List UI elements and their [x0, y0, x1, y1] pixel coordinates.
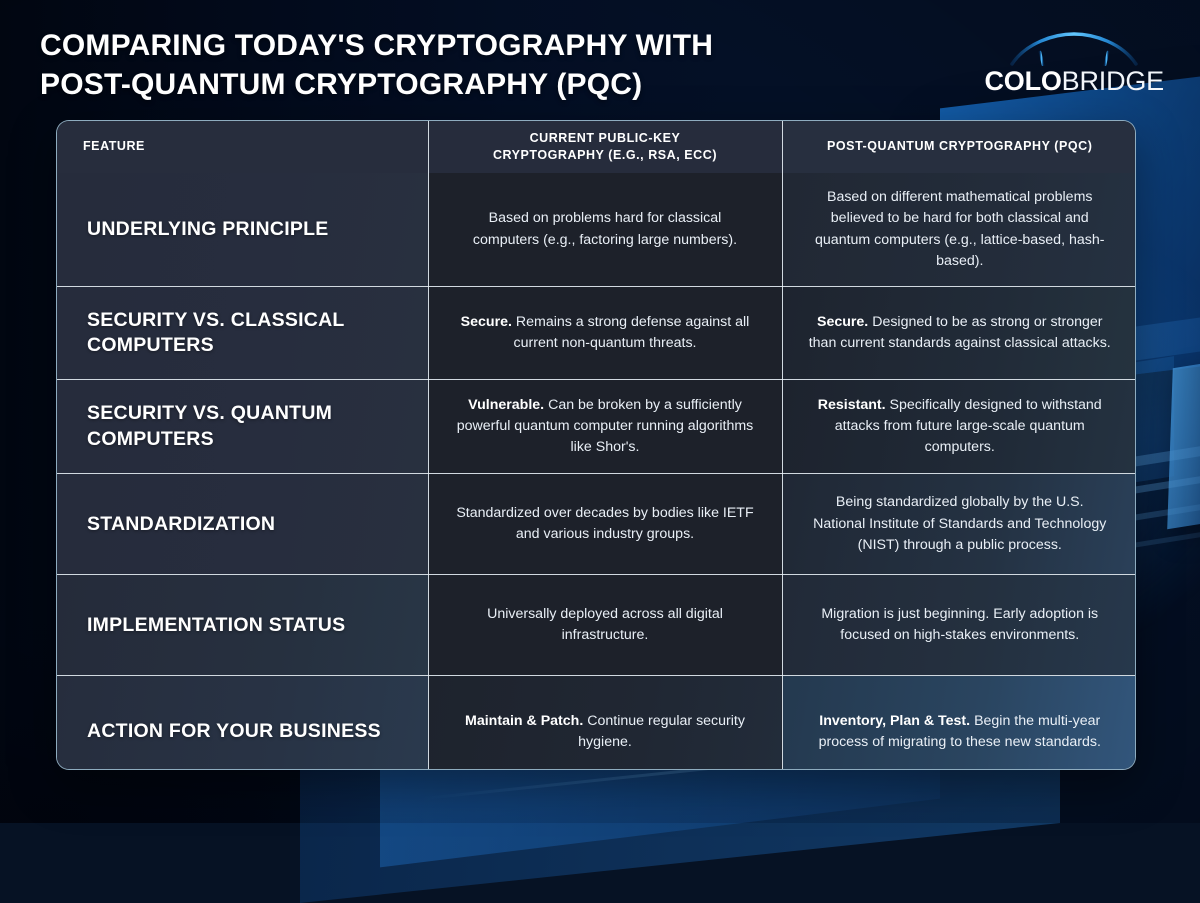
- table-row: STANDARDIZATION Standardized over decade…: [57, 474, 1136, 575]
- table-row: UNDERLYING PRINCIPLE Based on problems h…: [57, 173, 1136, 287]
- row-current-lead: Vulnerable.: [468, 397, 544, 413]
- page-title: COMPARING TODAY'S CRYPTOGRAPHY WITH POST…: [40, 26, 713, 104]
- row-pqc-value: Being standardized globally by the U.S. …: [782, 474, 1136, 575]
- row-pqc-value: Secure. Designed to be as strong or stro…: [782, 287, 1136, 380]
- column-header-current-line-2: CRYPTOGRAPHY (E.G., RSA, ECC): [493, 148, 717, 162]
- row-current-value: Standardized over decades by bodies like…: [428, 474, 782, 575]
- table-row: IMPLEMENTATION STATUS Universally deploy…: [57, 575, 1136, 676]
- row-current-text: Remains a strong defense against all cur…: [514, 314, 750, 351]
- comparison-table: FEATURE CURRENT PUBLIC-KEY CRYPTOGRAPHY …: [57, 121, 1136, 770]
- colobridge-logo[interactable]: COLOBRIDGE: [984, 26, 1164, 95]
- row-current-lead: Maintain & Patch.: [465, 713, 583, 729]
- row-feature-label: ACTION FOR YOUR BUSINESS: [57, 676, 428, 770]
- row-pqc-text: Migration is just beginning. Early adopt…: [821, 606, 1098, 643]
- row-current-value: Maintain & Patch. Continue regular secur…: [428, 676, 782, 770]
- row-current-value: Secure. Remains a strong defense against…: [428, 287, 782, 380]
- column-header-pqc: POST-QUANTUM CRYPTOGRAPHY (PQC): [782, 121, 1136, 173]
- row-pqc-value: Inventory, Plan & Test. Begin the multi-…: [782, 676, 1136, 770]
- row-pqc-lead: Resistant.: [818, 397, 886, 413]
- row-pqc-text: Being standardized globally by the U.S. …: [813, 494, 1106, 553]
- row-feature-label: SECURITY VS. QUANTUM COMPUTERS: [57, 380, 428, 474]
- column-header-current-crypto: CURRENT PUBLIC-KEY CRYPTOGRAPHY (E.G., R…: [428, 121, 782, 173]
- page-header: COMPARING TODAY'S CRYPTOGRAPHY WITH POST…: [0, 0, 1200, 118]
- table-row: SECURITY VS. QUANTUM COMPUTERS Vulnerabl…: [57, 380, 1136, 474]
- row-current-text: Continue regular security hygiene.: [578, 713, 745, 750]
- row-current-value: Vulnerable. Can be broken by a sufficien…: [428, 380, 782, 474]
- row-pqc-value: Resistant. Specifically designed to with…: [782, 380, 1136, 474]
- row-pqc-text: Based on different mathematical problems…: [815, 189, 1104, 269]
- row-pqc-lead: Secure.: [817, 314, 868, 330]
- row-feature-label: SECURITY VS. CLASSICAL COMPUTERS: [57, 287, 428, 380]
- row-current-lead: Secure.: [461, 314, 512, 330]
- row-pqc-value: Migration is just beginning. Early adopt…: [782, 575, 1136, 676]
- row-current-text: Based on problems hard for classical com…: [473, 210, 737, 247]
- column-header-current-line-1: CURRENT PUBLIC-KEY: [530, 131, 681, 145]
- bridge-arc-icon: [1010, 32, 1138, 66]
- table-header-row: FEATURE CURRENT PUBLIC-KEY CRYPTOGRAPHY …: [57, 121, 1136, 173]
- row-current-value: Universally deployed across all digital …: [428, 575, 782, 676]
- table-body: UNDERLYING PRINCIPLE Based on problems h…: [57, 173, 1136, 770]
- row-current-text: Standardized over decades by bodies like…: [456, 505, 753, 542]
- row-pqc-value: Based on different mathematical problems…: [782, 173, 1136, 287]
- row-feature-label: STANDARDIZATION: [57, 474, 428, 575]
- logo-wordmark-light: BRIDGE: [1062, 66, 1164, 96]
- row-feature-label: IMPLEMENTATION STATUS: [57, 575, 428, 676]
- page-title-line-2: POST-QUANTUM CRYPTOGRAPHY (PQC): [40, 65, 713, 104]
- table-row: SECURITY VS. CLASSICAL COMPUTERS Secure.…: [57, 287, 1136, 380]
- logo-wordmark: COLOBRIDGE: [984, 68, 1164, 95]
- table-row: ACTION FOR YOUR BUSINESS Maintain & Patc…: [57, 676, 1136, 770]
- row-current-text: Universally deployed across all digital …: [487, 606, 723, 643]
- logo-wordmark-bold: COLO: [984, 66, 1061, 96]
- page-title-line-1: COMPARING TODAY'S CRYPTOGRAPHY WITH: [40, 26, 713, 65]
- row-current-value: Based on problems hard for classical com…: [428, 173, 782, 287]
- comparison-table-container: FEATURE CURRENT PUBLIC-KEY CRYPTOGRAPHY …: [56, 120, 1136, 770]
- row-feature-label: UNDERLYING PRINCIPLE: [57, 173, 428, 287]
- column-header-feature: FEATURE: [57, 121, 428, 173]
- row-pqc-lead: Inventory, Plan & Test.: [819, 713, 970, 729]
